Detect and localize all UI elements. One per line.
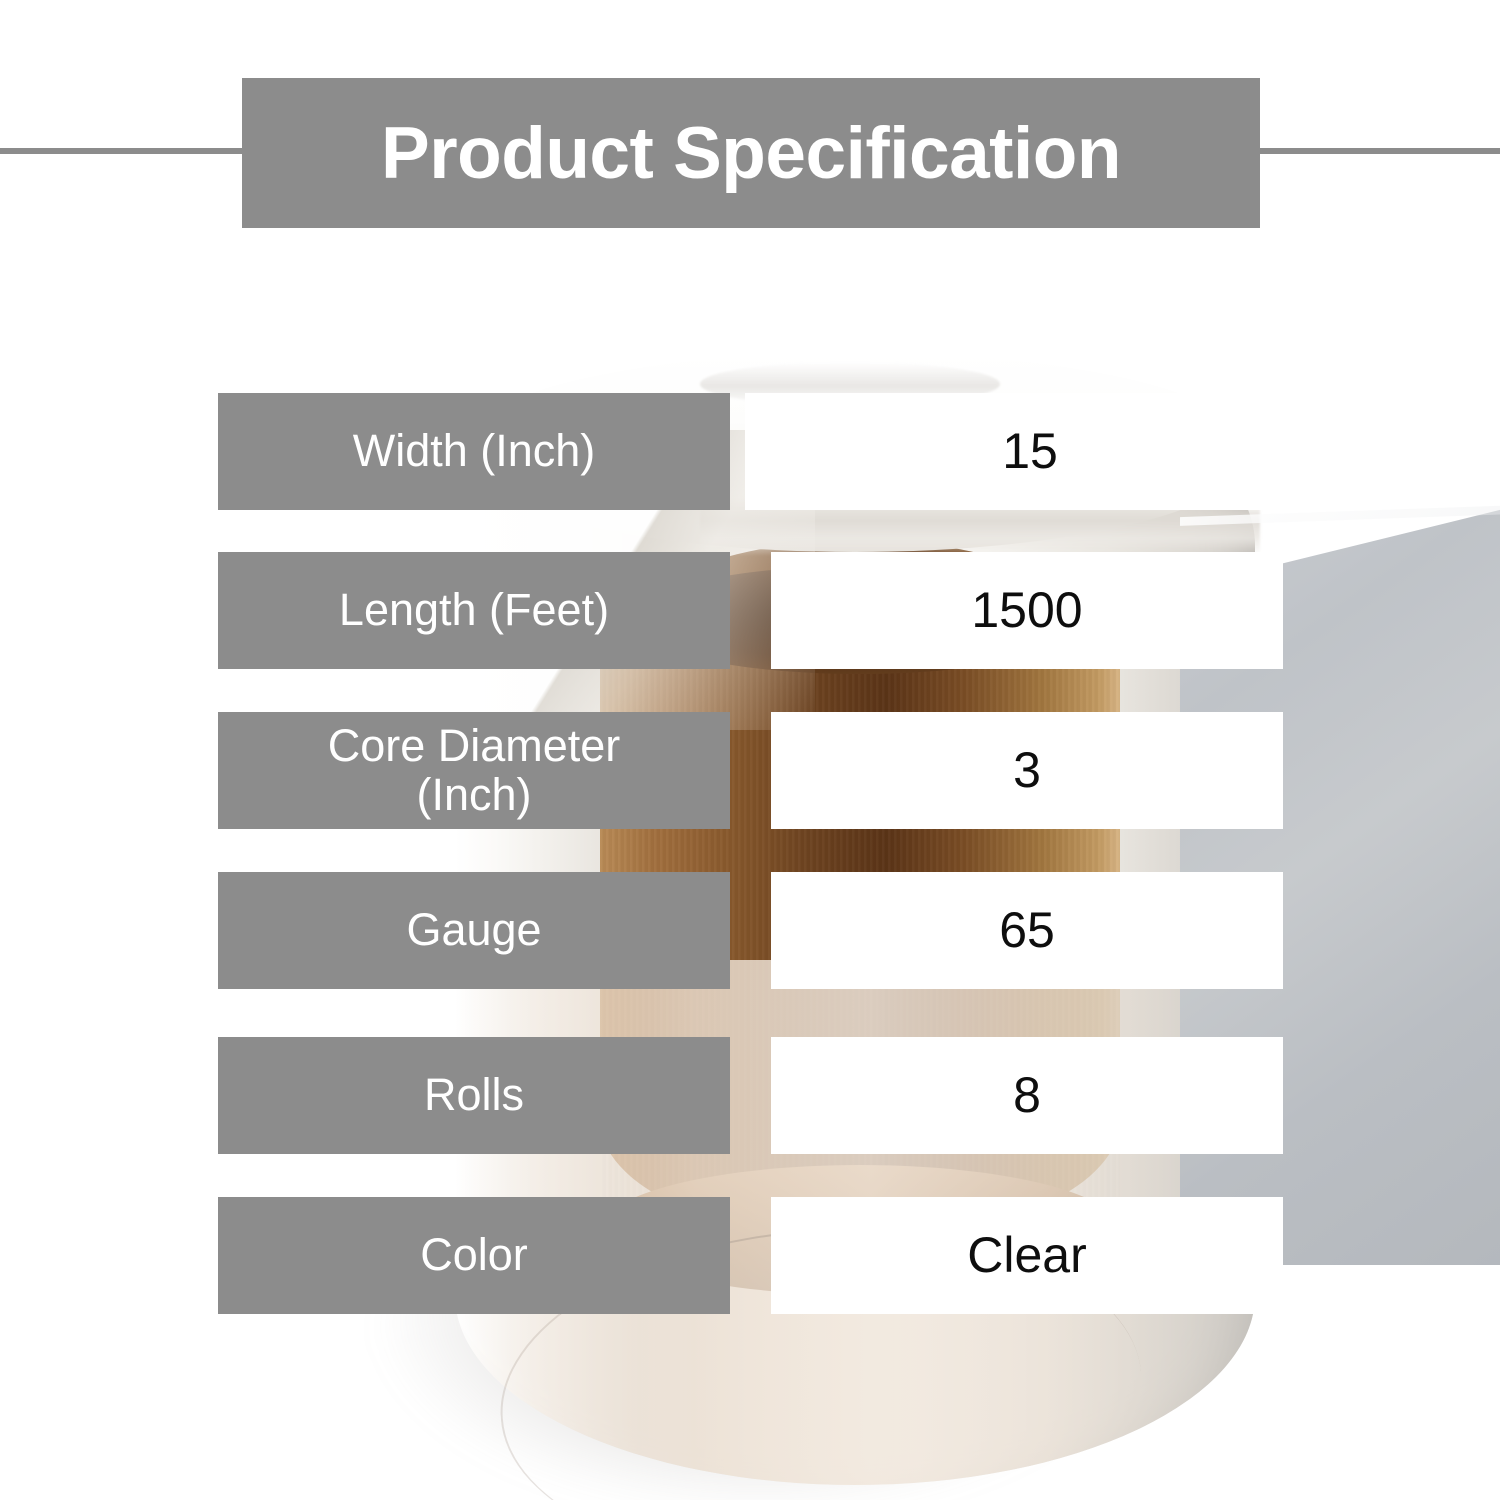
spec-label-length: Length (Feet)	[218, 552, 730, 669]
spec-label-width: Width (Inch)	[218, 393, 730, 510]
spec-table: Width (Inch) 15 Length (Feet) 1500 Core …	[0, 0, 1500, 1500]
product-specification-infographic: Product Specification Width (Inch) 15 Le…	[0, 0, 1500, 1500]
spec-label-core-diameter: Core Diameter (Inch)	[218, 712, 730, 829]
spec-label-rolls: Rolls	[218, 1037, 730, 1154]
spec-value-color: Clear	[771, 1197, 1283, 1314]
spec-value-core-diameter: 3	[771, 712, 1283, 829]
spec-label-color: Color	[218, 1197, 730, 1314]
spec-value-rolls: 8	[771, 1037, 1283, 1154]
spec-value-gauge: 65	[771, 872, 1283, 989]
spec-label-gauge: Gauge	[218, 872, 730, 989]
spec-value-length: 1500	[771, 552, 1283, 669]
spec-value-width: 15	[760, 393, 1300, 510]
